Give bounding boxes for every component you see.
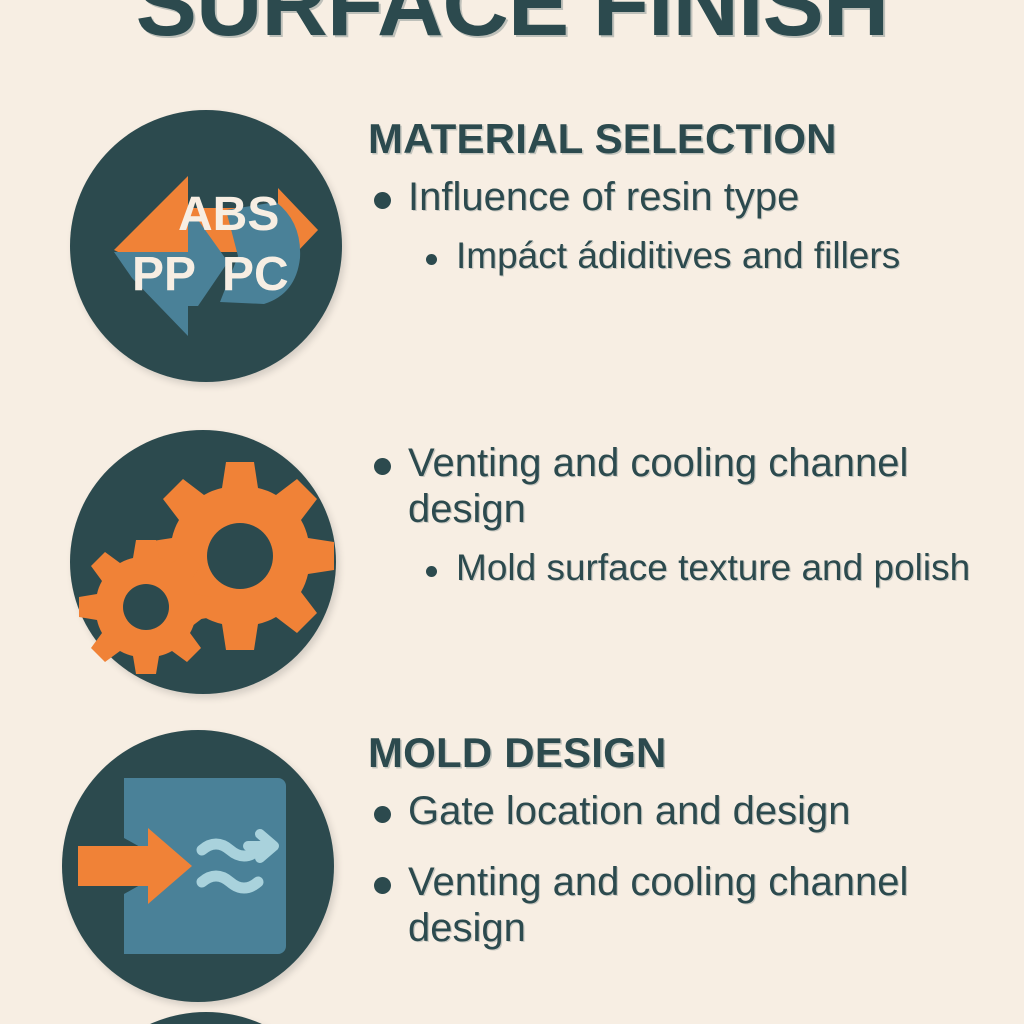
bullet-item: Gate location and design xyxy=(368,788,1016,834)
gears-svg xyxy=(70,430,336,694)
pc-label: PC xyxy=(222,248,289,301)
partial-circle-icon xyxy=(70,1012,342,1024)
section-heading-material-selection: MATERIAL SELECTION xyxy=(368,116,1016,162)
mold-gate-flow-icon xyxy=(62,730,334,1002)
section-text-material-selection: MATERIAL SELECTION Influence of resin ty… xyxy=(368,116,1016,287)
small-gear-hole xyxy=(123,584,169,630)
section-heading-mold-design: MOLD DESIGN xyxy=(368,730,1016,776)
page-title: SURFACE FINISH xyxy=(0,0,1024,53)
bullet-item: Venting and cooling channel design xyxy=(368,859,1016,952)
resin-arrows-svg: ABS PP PC xyxy=(70,110,342,382)
pp-label: PP xyxy=(132,248,196,301)
mold-flow-svg xyxy=(62,730,334,1002)
bullet-item: Influence of resin type xyxy=(368,174,1016,220)
bullet-item: Venting and cooling channel design xyxy=(368,440,1016,533)
gears-icon xyxy=(70,430,336,694)
bullet-item-sub: Impáct ádiditives and fillers xyxy=(368,235,1016,278)
section-text-mold-design: MOLD DESIGN Gate location and design Ven… xyxy=(368,730,1016,961)
abs-label: ABS xyxy=(178,188,279,241)
material-resin-arrows-icon: ABS PP PC xyxy=(70,110,342,382)
bullet-item-sub: Mold surface texture and polish xyxy=(368,547,1016,590)
section-text-process-control: Venting and cooling channel design Mold … xyxy=(368,440,1016,600)
infographic-poster: SURFACE FINISH ABS PP PC MATERIAL SELECT… xyxy=(0,0,1024,1024)
large-gear-hole xyxy=(207,523,273,589)
